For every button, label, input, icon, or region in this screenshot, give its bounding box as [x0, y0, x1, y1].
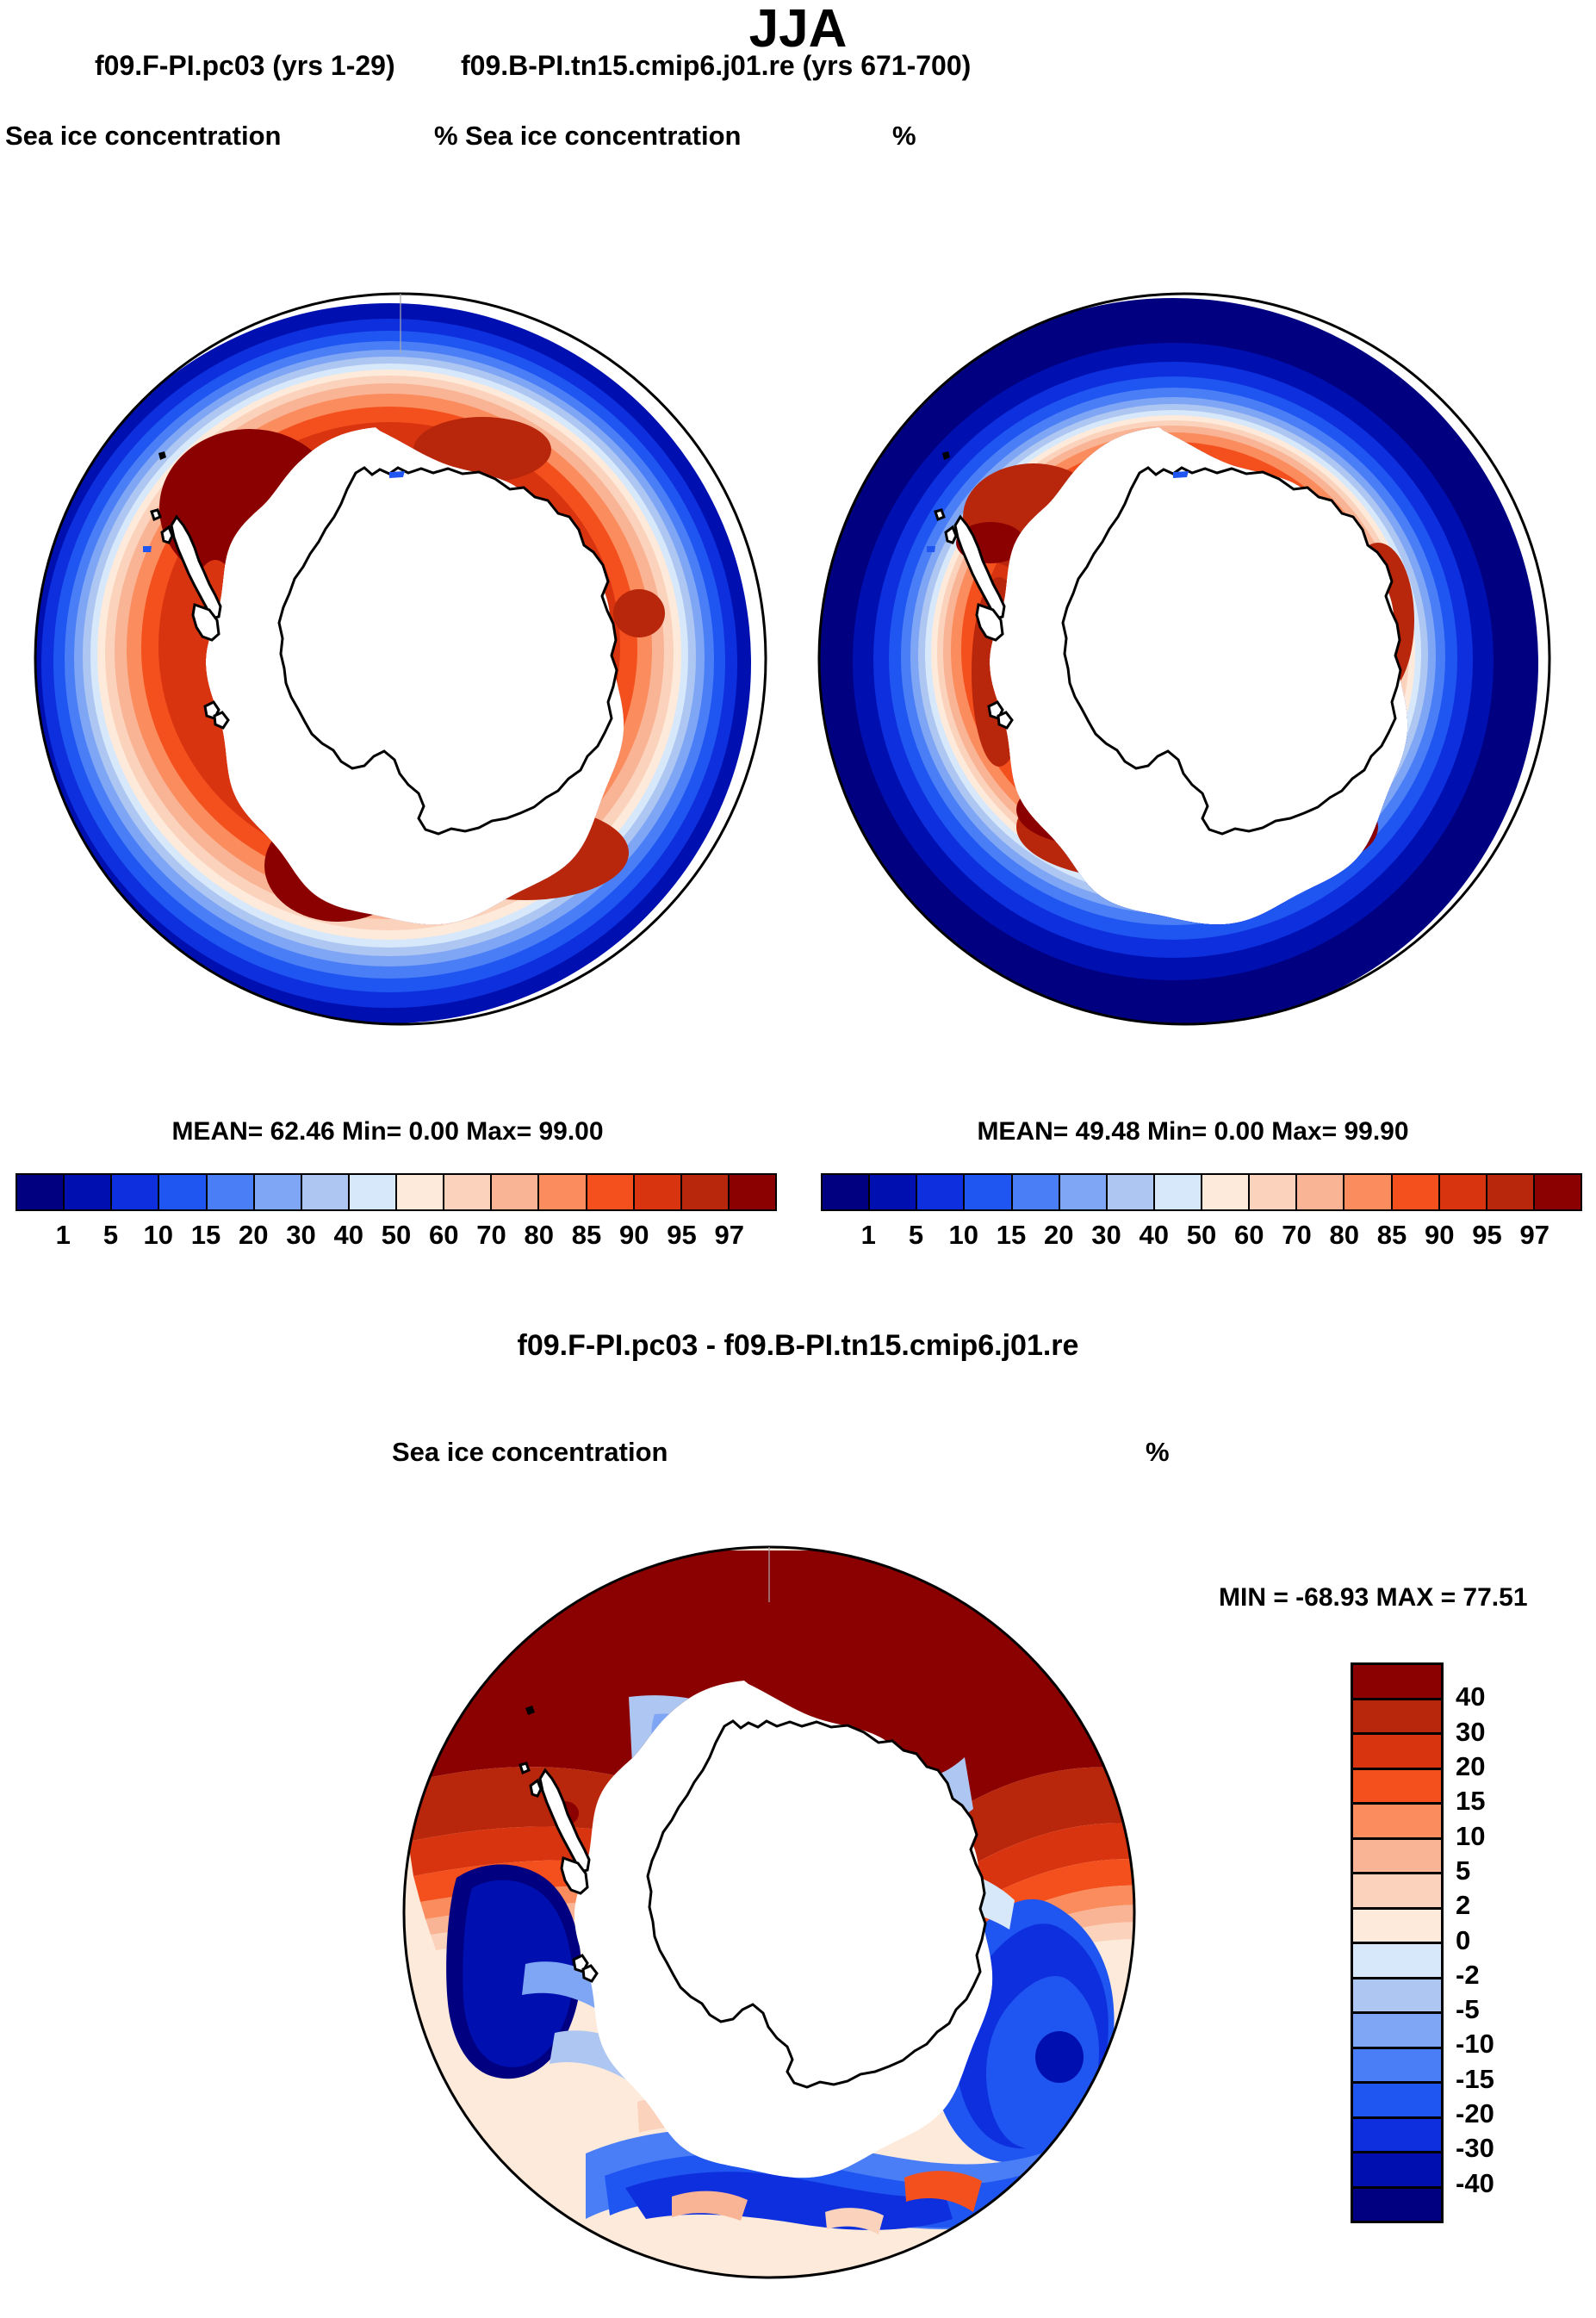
colorbar-swatch[interactable]	[1353, 1770, 1441, 1805]
colorbar-swatch[interactable]	[635, 1175, 682, 1209]
colorbar-swatch[interactable]	[1353, 1840, 1441, 1875]
colorbar-swatch[interactable]	[1344, 1175, 1392, 1209]
colorbar-swatch[interactable]	[444, 1175, 492, 1209]
colorbar-swatch[interactable]	[1353, 1874, 1441, 1910]
left-colorbar-ticks: 1510152030405060708085909597	[16, 1220, 773, 1254]
colorbar-tick-label: 97	[1520, 1220, 1549, 1251]
right-stats: MEAN= 49.48 Min= 0.00 Max= 99.90	[805, 1117, 1580, 1147]
colorbar-swatch[interactable]	[159, 1175, 207, 1209]
right-colorbar[interactable]	[821, 1173, 1582, 1211]
colorbar-tick-label: 85	[572, 1220, 601, 1251]
colorbar-tick-label: 30	[1091, 1220, 1121, 1251]
difference-colorbar-ticks: 4030201510520-2-5-10-15-20-30-40	[1456, 1662, 1585, 2218]
colorbar-swatch[interactable]	[397, 1175, 444, 1209]
colorbar-tick-label: 0	[1456, 1925, 1470, 1956]
colorbar-tick-label: 60	[1234, 1220, 1264, 1251]
colorbar-tick-label: 70	[1282, 1220, 1311, 1251]
colorbar-swatch[interactable]	[1535, 1175, 1580, 1209]
colorbar-tick-label: 1	[56, 1220, 71, 1251]
colorbar-tick-label: 70	[476, 1220, 506, 1251]
colorbar-swatch[interactable]	[1353, 1700, 1441, 1736]
colorbar-tick-label: 10	[1456, 1821, 1485, 1852]
colorbar-swatch[interactable]	[1155, 1175, 1202, 1209]
colorbar-tick-label: 60	[429, 1220, 458, 1251]
colorbar-swatch[interactable]	[1202, 1175, 1250, 1209]
colorbar-swatch[interactable]	[492, 1175, 539, 1209]
colorbar-swatch[interactable]	[1353, 1979, 1441, 2015]
colorbar-tick-label: 85	[1377, 1220, 1407, 1251]
colorbar-swatch[interactable]	[1353, 2189, 1441, 2222]
colorbar-swatch[interactable]	[870, 1175, 917, 1209]
colorbar-swatch[interactable]	[1487, 1175, 1535, 1209]
colorbar-tick-label: 20	[239, 1220, 268, 1251]
colorbar-tick-label: 2	[1456, 1890, 1470, 1921]
colorbar-swatch[interactable]	[65, 1175, 112, 1209]
colorbar-swatch[interactable]	[587, 1175, 635, 1209]
colorbar-tick-label: 80	[525, 1220, 554, 1251]
colorbar-swatch[interactable]	[1353, 1805, 1441, 1840]
colorbar-swatch[interactable]	[1353, 1665, 1441, 1700]
colorbar-swatch[interactable]	[350, 1175, 397, 1209]
colorbar-swatch[interactable]	[1250, 1175, 1297, 1209]
colorbar-swatch[interactable]	[730, 1175, 775, 1209]
left-panel-title: f09.F-PI.pc03 (yrs 1-29)	[95, 50, 395, 82]
left-stats: MEAN= 62.46 Min= 0.00 Max= 99.00	[0, 1117, 775, 1147]
colorbar-tick-label: 15	[997, 1220, 1026, 1251]
colorbar-swatch[interactable]	[917, 1175, 965, 1209]
difference-stats: MIN = -68.93 MAX = 77.51	[1219, 1583, 1528, 1613]
colorbar-tick-label: 50	[1187, 1220, 1216, 1251]
difference-colorbar[interactable]	[1351, 1662, 1444, 2223]
colorbar-swatch[interactable]	[1353, 1735, 1441, 1770]
colorbar-swatch[interactable]	[1353, 2014, 1441, 2049]
colorbar-tick-label: 15	[1456, 1786, 1485, 1817]
difference-map-svg	[370, 1499, 1189, 2317]
colorbar-tick-label: 5	[909, 1220, 923, 1251]
colorbar-tick-label: 95	[1472, 1220, 1501, 1251]
colorbar-tick-label: -40	[1456, 2168, 1494, 2199]
colorbar-tick-label: 5	[103, 1220, 118, 1251]
colorbar-swatch[interactable]	[1013, 1175, 1060, 1209]
right-field-label: Sea ice concentration	[465, 121, 741, 152]
left-map-panel	[0, 258, 801, 1060]
colorbar-tick-label: 40	[1140, 1220, 1169, 1251]
colorbar-tick-label: 50	[382, 1220, 411, 1251]
right-map-panel	[775, 258, 1593, 1060]
colorbar-tick-label: 15	[191, 1220, 220, 1251]
left-map-svg	[0, 258, 801, 1060]
antarctica-outline	[279, 468, 617, 834]
colorbar-tick-label: 1	[861, 1220, 876, 1251]
colorbar-swatch[interactable]	[1297, 1175, 1344, 1209]
colorbar-tick-label: 5	[1456, 1855, 1470, 1886]
colorbar-tick-label: 80	[1330, 1220, 1359, 1251]
colorbar-swatch[interactable]	[1353, 2084, 1441, 2119]
difference-map-panel	[370, 1499, 1189, 2317]
colorbar-swatch[interactable]	[1108, 1175, 1155, 1209]
colorbar-swatch[interactable]	[1353, 2153, 1441, 2189]
colorbar-tick-label: 40	[334, 1220, 363, 1251]
colorbar-swatch[interactable]	[255, 1175, 302, 1209]
right-panel-title: f09.B-PI.tn15.cmip6.j01.re (yrs 671-700)	[461, 50, 971, 82]
colorbar-tick-label: -5	[1456, 1994, 1480, 2025]
colorbar-tick-label: -30	[1456, 2133, 1494, 2164]
right-colorbar-ticks: 1510152030405060708085909597	[821, 1220, 1579, 1254]
difference-panel-title: f09.F-PI.pc03 - f09.B-PI.tn15.cmip6.j01.…	[0, 1329, 1596, 1363]
colorbar-tick-label: 20	[1044, 1220, 1073, 1251]
colorbar-tick-label: 30	[1456, 1717, 1485, 1748]
left-units-label: %	[434, 121, 458, 152]
colorbar-swatch[interactable]	[1353, 1944, 1441, 1979]
colorbar-tick-label: -10	[1456, 2029, 1494, 2060]
right-map-svg	[775, 258, 1593, 1060]
colorbar-swatch[interactable]	[302, 1175, 350, 1209]
colorbar-tick-label: -2	[1456, 1960, 1480, 1991]
colorbar-tick-label: 95	[667, 1220, 696, 1251]
colorbar-tick-label: 10	[144, 1220, 173, 1251]
colorbar-swatch[interactable]	[1353, 2049, 1441, 2085]
difference-units-label: %	[1146, 1437, 1170, 1468]
colorbar-swatch[interactable]	[539, 1175, 587, 1209]
colorbar-swatch[interactable]	[17, 1175, 65, 1209]
colorbar-tick-label: 30	[286, 1220, 315, 1251]
colorbar-tick-label: -15	[1456, 2064, 1494, 2095]
left-colorbar[interactable]	[16, 1173, 777, 1211]
colorbar-tick-label: 10	[949, 1220, 978, 1251]
colorbar-swatch[interactable]	[823, 1175, 870, 1209]
colorbar-swatch[interactable]	[965, 1175, 1012, 1209]
colorbar-swatch[interactable]	[1060, 1175, 1108, 1209]
colorbar-tick-label: 97	[715, 1220, 744, 1251]
colorbar-swatch[interactable]	[1353, 1910, 1441, 1945]
colorbar-swatch[interactable]	[682, 1175, 730, 1209]
colorbar-swatch[interactable]	[1440, 1175, 1487, 1209]
colorbar-tick-label: 90	[1425, 1220, 1454, 1251]
left-field-label: Sea ice concentration	[5, 121, 281, 152]
right-units-label: %	[892, 121, 916, 152]
colorbar-swatch[interactable]	[1353, 2119, 1441, 2154]
colorbar-swatch[interactable]	[208, 1175, 255, 1209]
colorbar-swatch[interactable]	[112, 1175, 159, 1209]
colorbar-swatch[interactable]	[1393, 1175, 1440, 1209]
colorbar-tick-label: -20	[1456, 2098, 1494, 2129]
difference-field-label: Sea ice concentration	[392, 1437, 668, 1468]
colorbar-tick-label: 20	[1456, 1751, 1485, 1782]
colorbar-tick-label: 90	[619, 1220, 649, 1251]
colorbar-tick-label: 40	[1456, 1681, 1485, 1712]
